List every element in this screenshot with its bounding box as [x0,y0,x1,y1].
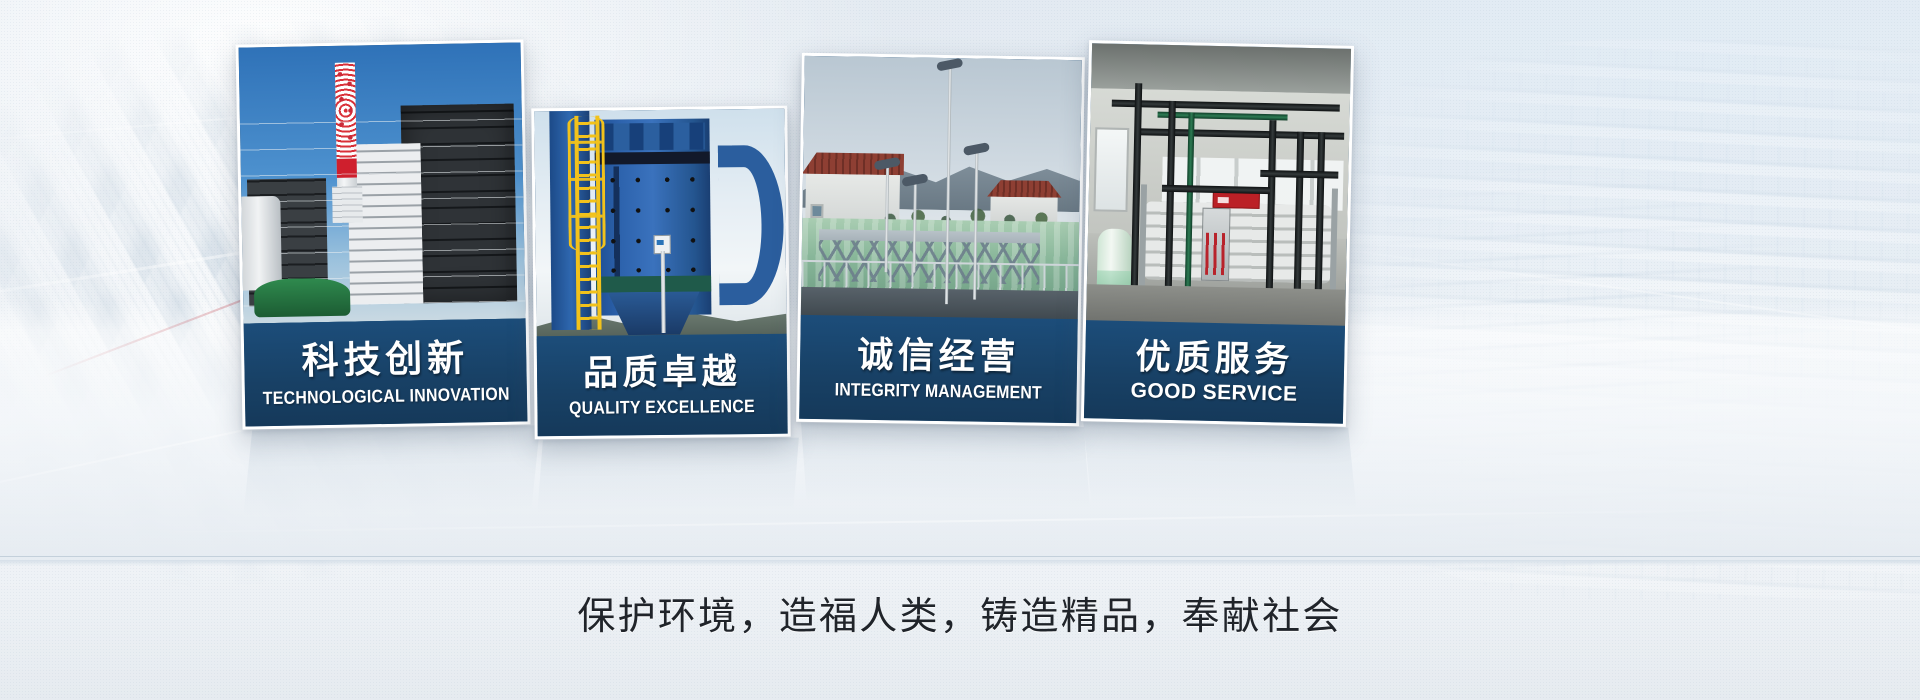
ceiling [1091,43,1351,93]
baghouse-body [594,119,711,316]
card-label-good-service: 优质服务 GOOD SERVICE [1084,320,1345,424]
card-photo-integrity-management [801,56,1082,322]
scene-water-treatment-plant [801,56,1082,322]
card-inner: 品质卓越 QUALITY EXCELLENCE [534,109,787,437]
feature-card-integrity-management[interactable]: 诚信经营 INTEGRITY MANAGEMENT [796,53,1085,426]
top-grill [599,123,705,152]
green-band [596,275,711,292]
card-inner: 诚信经营 INTEGRITY MANAGEMENT [799,56,1082,423]
card-photo-quality-excellence [534,109,786,340]
card-title-en: TECHNOLOGICAL INNOVATION [262,384,509,407]
card-label-integrity-management: 诚信经营 INTEGRITY MANAGEMENT [799,315,1078,423]
scene-dust-collector [534,109,786,340]
card-title-cn: 诚信经营 [857,337,1020,376]
room-window [1094,127,1129,212]
feature-card-quality-excellence[interactable]: 品质卓越 QUALITY EXCELLENCE [531,106,790,440]
control-cabinet [1201,208,1231,281]
card-title-cn: 优质服务 [1135,339,1294,377]
card-label-quality-excellence: 品质卓越 QUALITY EXCELLENCE [537,334,788,437]
dark-belt [595,152,710,165]
card-title-en: INTEGRITY MANAGEMENT [834,380,1041,401]
card-label-technological-innovation: 科技创新 TECHNOLOGICAL INNOVATION [244,318,528,426]
card-title-cn: 品质卓越 [583,354,742,391]
hero-banner: 科技创新 TECHNOLOGICAL INNOVATION [0,0,1920,700]
white-silo [239,196,283,291]
scene-ro-equipment-room [1086,43,1351,329]
yellow-ladder [574,115,601,330]
card-inner: 优质服务 GOOD SERVICE [1084,43,1351,424]
feature-card-good-service[interactable]: 优质服务 GOOD SERVICE [1081,40,1354,427]
banner-tagline: 保护环境，造福人类，铸造精品，奉献社会 [0,585,1920,640]
red-warning-sign [1213,191,1260,209]
card-photo-good-service [1086,43,1351,329]
green-tank [254,277,351,317]
card-title-en: QUALITY EXCELLENCE [569,397,755,417]
scaffolding-lines [240,109,525,307]
valve-bolts [600,170,707,293]
card-title-en: GOOD SERVICE [1130,380,1297,405]
feature-card-technological-innovation[interactable]: 科技创新 TECHNOLOGICAL INNOVATION [235,39,530,429]
card-inner: 科技创新 TECHNOLOGICAL INNOVATION [239,42,528,426]
support-post [661,251,666,333]
building-windows [811,204,823,218]
scene-industrial-stack [239,42,526,323]
card-photo-technological-innovation [239,42,526,323]
card-title-cn: 科技创新 [301,339,469,379]
